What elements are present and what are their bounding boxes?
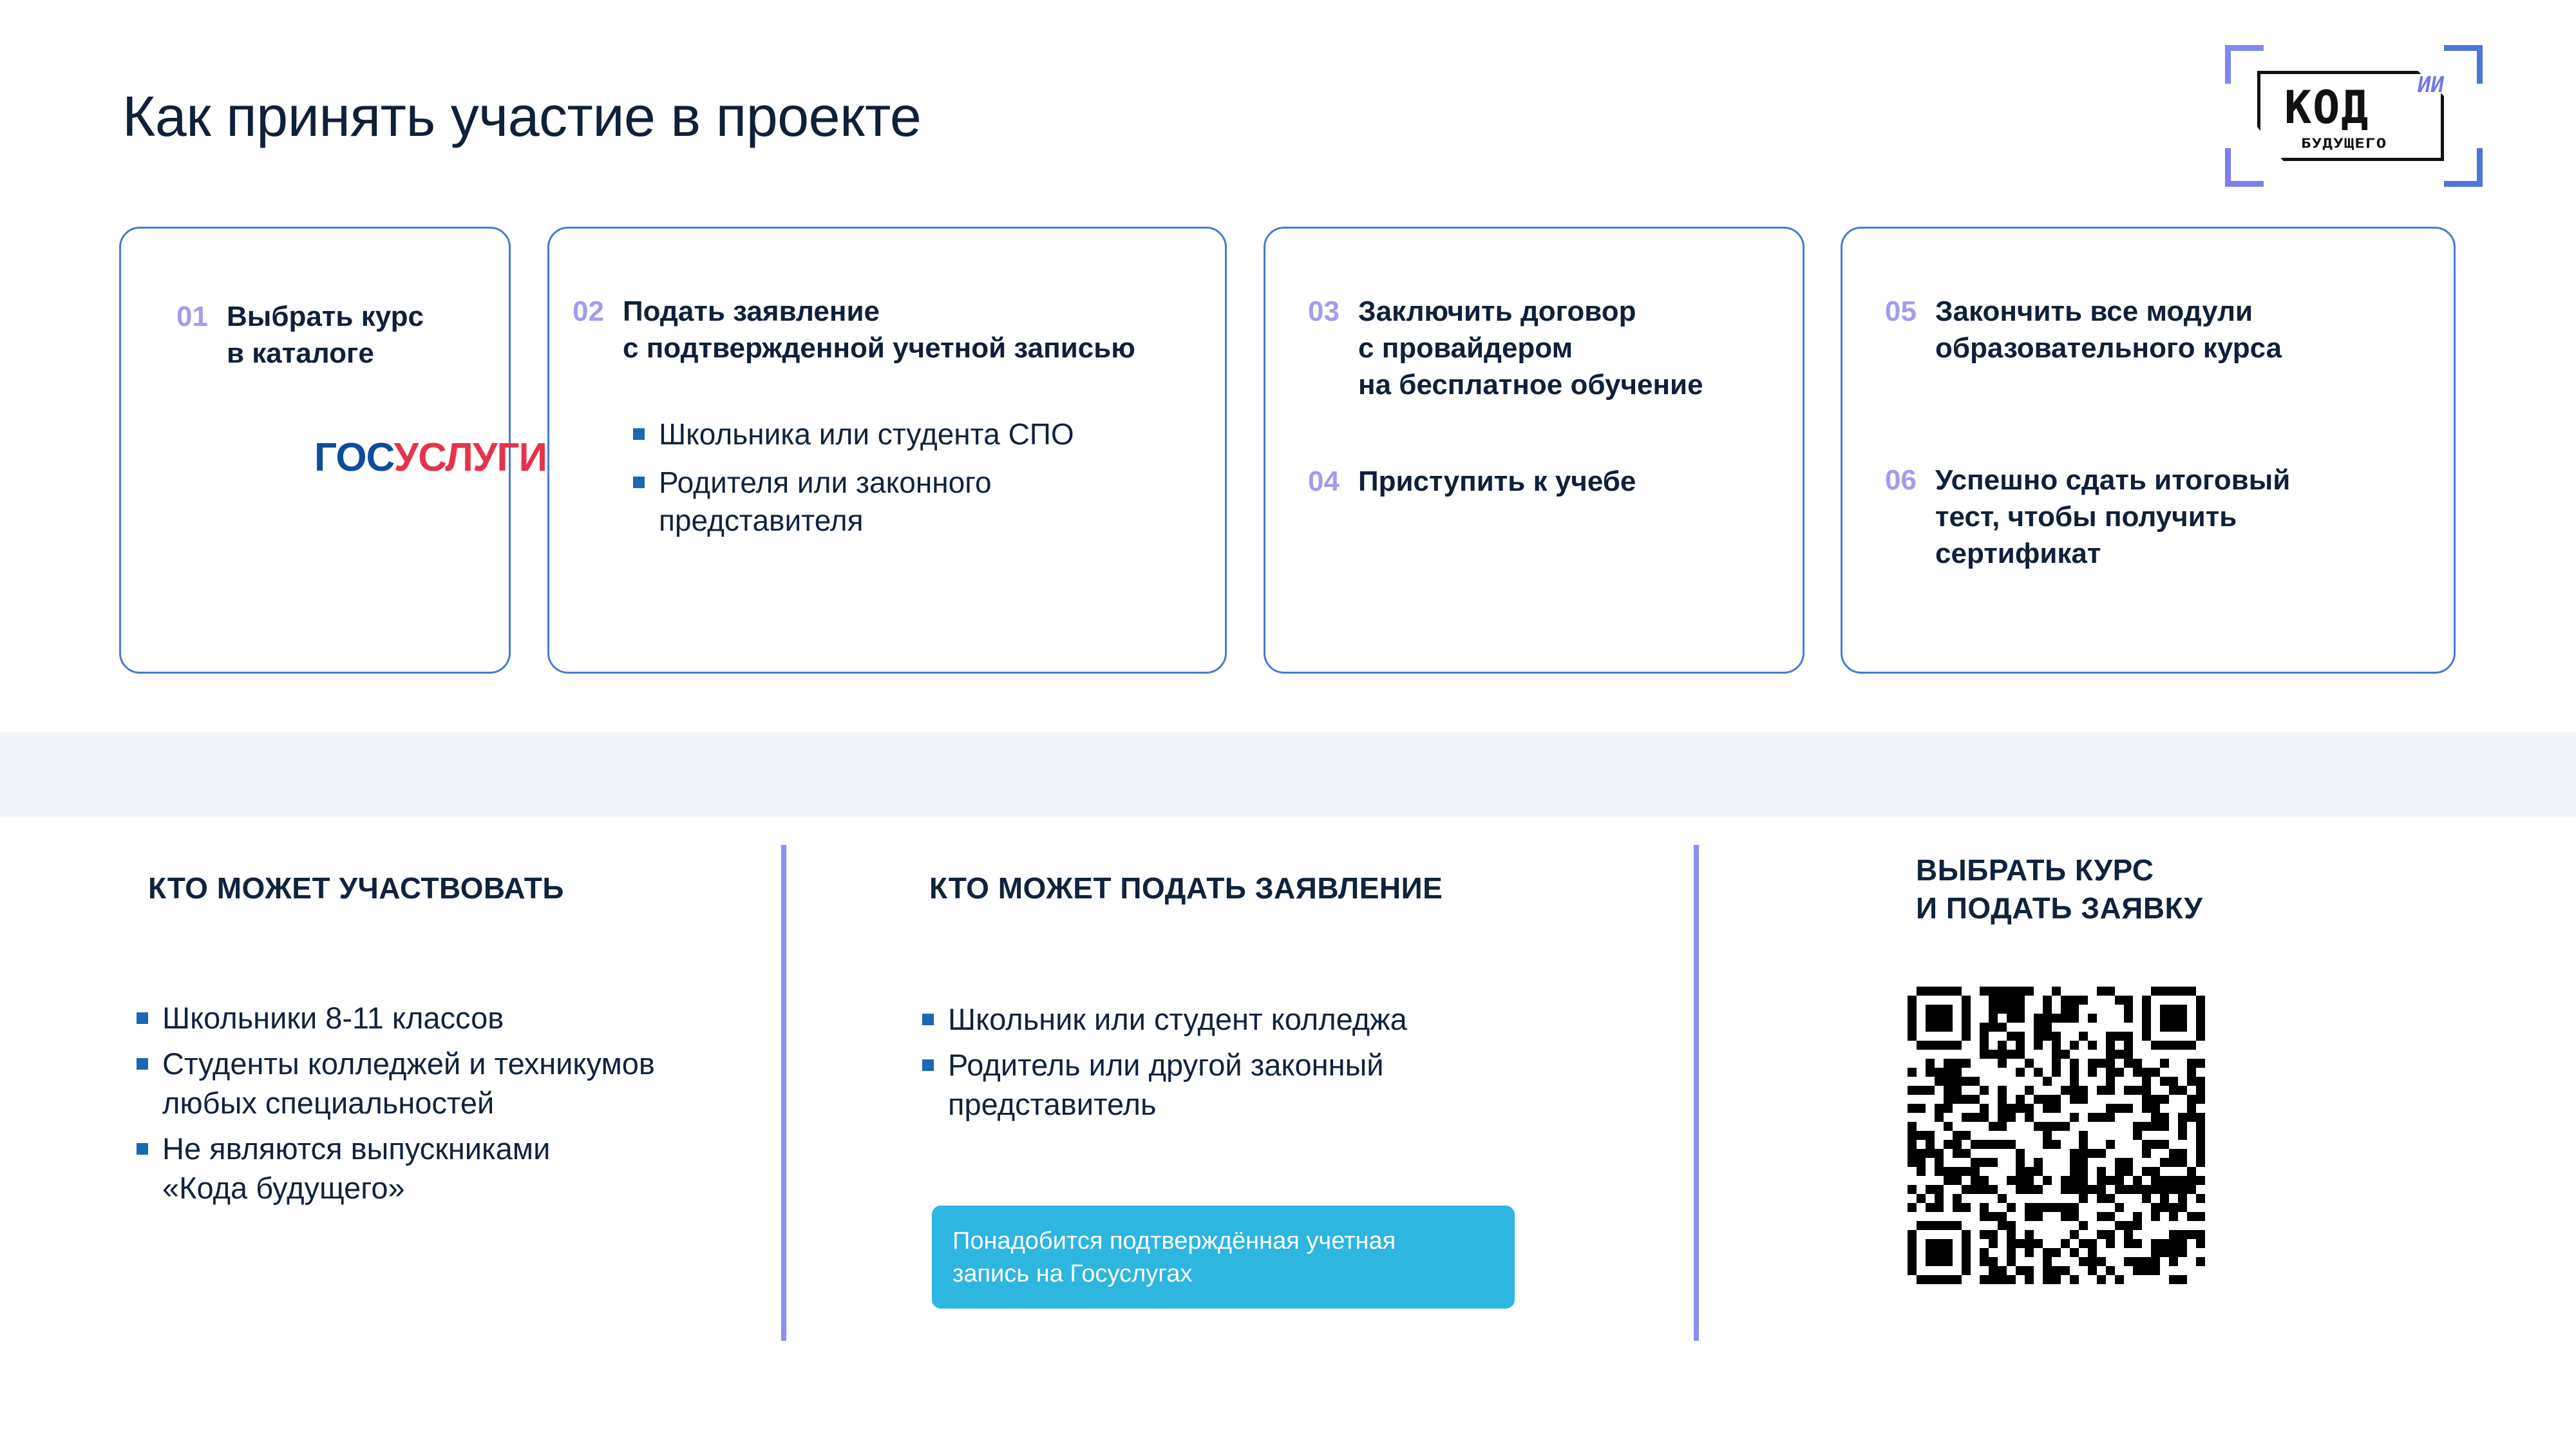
step-02: 02 Подать заявление с подтвержденной уче… — [573, 293, 1135, 366]
step-label: Закончить все модули образовательного ку… — [1935, 293, 2282, 366]
who-can-participate-list: Школьники 8-11 классов Студенты колледже… — [137, 998, 655, 1214]
bracket-top-right-icon — [2444, 45, 2483, 84]
bullet-square-icon — [922, 1059, 934, 1071]
step-02-bullet-list: Школьника или студента СПО Родителя или … — [633, 415, 1074, 550]
list-item: Школьник или студент колледжа — [922, 999, 1407, 1039]
logo-word-sub: БУДУЩЕГО — [2301, 136, 2387, 151]
step-06: 06 Успешно сдать итоговый тест, чтобы по… — [1885, 462, 2290, 573]
list-item-label: Родителя или законного представителя — [659, 464, 992, 540]
bullet-square-icon — [633, 477, 645, 488]
list-item: Студенты колледжей и техникумов любых сп… — [137, 1044, 655, 1122]
step-number: 04 — [1308, 463, 1358, 500]
step-card-4: 05 Закончить все модули образовательного… — [1841, 227, 2456, 674]
step-number: 02 — [573, 293, 623, 330]
list-item-label: Школьника или студента СПО — [659, 415, 1074, 453]
qr-code-canvas[interactable] — [1908, 987, 2205, 1284]
list-item-label: Школьники 8-11 классов — [162, 998, 504, 1037]
section-divider-band — [0, 732, 2576, 817]
list-item: Не являются выпускниками «Кода будущего» — [137, 1129, 655, 1207]
list-item-label: Не являются выпускниками «Кода будущего» — [162, 1129, 550, 1207]
bullet-square-icon — [137, 1012, 148, 1024]
step-card-3: 03 Заключить договор с провайдером на бе… — [1264, 227, 1804, 674]
list-item: Школьника или студента СПО — [633, 415, 1074, 453]
list-item-label: Родитель или другой законный представите… — [948, 1045, 1384, 1124]
step-number: 03 — [1308, 293, 1358, 330]
column-heading-who-can-participate: КТО МОЖЕТ УЧАСТВОВАТЬ — [148, 869, 564, 907]
column-heading-who-can-apply: КТО МОЖЕТ ПОДАТЬ ЗАЯВЛЕНИЕ — [929, 869, 1443, 907]
column-heading-choose-course: ВЫБРАТЬ КУРС И ПОДАТЬ ЗАЯВКУ — [1916, 851, 2202, 927]
step-03: 03 Заключить договор с провайдером на бе… — [1308, 293, 1703, 404]
list-item: Родитель или другой законный представите… — [922, 1045, 1407, 1124]
step-05: 05 Закончить все модули образовательного… — [1885, 293, 2282, 366]
step-card-2: 02 Подать заявление с подтвержденной уче… — [547, 227, 1227, 674]
callout-text: Понадобится подтверждённая учетная запис… — [952, 1225, 1494, 1291]
step-label: Приступить к учебе — [1358, 463, 1636, 500]
step-number: 06 — [1885, 462, 1935, 498]
step-number: 01 — [176, 298, 227, 335]
step-number: 05 — [1885, 293, 1935, 330]
logo-ai-badge: ИИ — [2416, 72, 2447, 98]
gosuslugi-logo: ГОСУСЛУГИ — [314, 435, 547, 480]
who-can-apply-list: Школьник или студент колледжа Родитель и… — [922, 999, 1407, 1130]
step-label: Успешно сдать итоговый тест, чтобы получ… — [1935, 462, 2290, 573]
list-item: Родителя или законного представителя — [633, 464, 1074, 540]
brand-logo: КОД БУДУЩЕГО ИИ — [2225, 39, 2483, 193]
bracket-bottom-right-icon — [2444, 148, 2483, 187]
column-divider-1 — [781, 845, 786, 1341]
step-label: Заключить договор с провайдером на беспл… — [1358, 293, 1703, 404]
bullet-square-icon — [137, 1058, 148, 1070]
list-item-label: Студенты колледжей и техникумов любых сп… — [162, 1044, 655, 1122]
bracket-bottom-left-icon — [2225, 148, 2264, 187]
qr-code[interactable] — [1908, 987, 2205, 1284]
step-label: Выбрать курс в каталоге — [227, 298, 424, 372]
logo-word-main: КОД — [2284, 81, 2369, 134]
column-divider-2 — [1694, 845, 1699, 1341]
bullet-square-icon — [137, 1143, 148, 1155]
step-04: 04 Приступить к учебе — [1308, 463, 1636, 500]
list-item-label: Школьник или студент колледжа — [948, 999, 1407, 1039]
bullet-square-icon — [922, 1014, 934, 1025]
page-title: Как принять участие в проекте — [122, 84, 921, 149]
step-01: 01 Выбрать курс в каталоге — [176, 298, 424, 372]
gosuslugi-logo-part2: УСЛУГИ — [394, 435, 547, 480]
bullet-square-icon — [633, 428, 645, 440]
step-label: Подать заявление с подтвержденной учетно… — [623, 293, 1135, 366]
callout-box: Понадобится подтверждённая учетная запис… — [932, 1206, 1515, 1309]
list-item: Школьники 8-11 классов — [137, 998, 655, 1037]
gosuslugi-logo-part1: ГОС — [314, 435, 394, 480]
step-card-1: 01 Выбрать курс в каталоге ГОСУСЛУГИ — [119, 227, 511, 674]
